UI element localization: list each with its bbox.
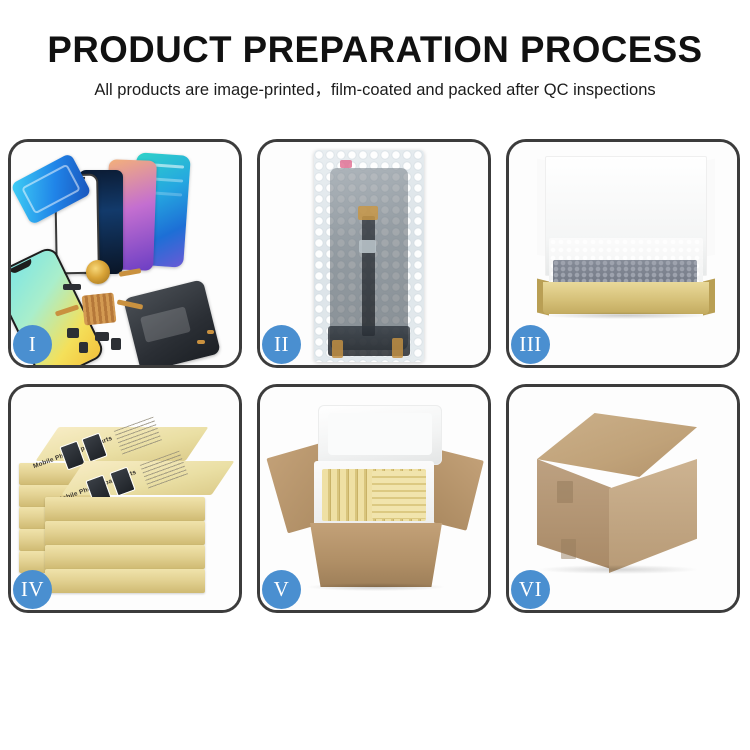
process-step-panel-4[interactable]: Mobile Phone Spare Parts Mobile Phone Sp… [8,384,242,613]
step-badge-2: II [262,325,301,364]
gold-contact-icon [332,340,343,358]
process-step-panel-1[interactable]: I [8,139,242,368]
step-badge-3: III [511,325,550,364]
step-badge-5: V [262,570,301,609]
screw-icon [197,340,205,344]
step-badge-6: VI [511,570,550,609]
page-header: PRODUCT PREPARATION PROCESS All products… [0,0,750,102]
flex-cable-icon [362,216,375,336]
retail-box-edge [45,497,205,521]
wireless-coil-icon [86,260,110,284]
carton-right-face-icon [609,459,697,573]
chip-icon [67,328,79,338]
carton-body-icon [310,523,442,587]
phone-back-housing-icon [123,279,221,365]
retail-box-edge [45,545,205,569]
foam-box-lid-icon [318,405,442,465]
box-stack: Mobile Phone Spare Parts Mobile Phone Sp… [17,405,237,605]
chip-icon [111,338,121,350]
connector-grid-icon [82,292,117,325]
gold-boxes-inside-icon [372,471,426,519]
gold-tray-icon [543,282,709,314]
chip-icon [95,332,109,341]
drop-shadow [308,583,444,591]
process-step-grid: I II [8,139,742,613]
gold-contact-icon [392,338,403,358]
gold-connector-icon [358,206,378,220]
step-badge-4: IV [13,570,52,609]
carton-tape-icon [561,539,576,559]
bubble-wrap-bag-icon [314,150,424,362]
retail-box-edge [45,569,205,593]
drop-shadow [539,565,697,574]
process-step-panel-2[interactable]: II [257,139,491,368]
page-subtitle: All products are image-printed，film-coat… [0,78,750,102]
process-step-panel-3[interactable]: III [506,139,740,368]
screw-icon [207,330,214,334]
ic-connector-icon [359,240,376,253]
carton-tape-icon [557,481,573,503]
drop-shadow [543,312,709,319]
chip-icon [63,284,81,290]
process-step-panel-6[interactable]: VI [506,384,740,613]
process-step-panel-5[interactable]: V [257,384,491,613]
pink-label-icon [340,160,352,168]
chip-icon [79,342,88,353]
retail-box-edge [45,521,205,545]
page-title: PRODUCT PREPARATION PROCESS [4,28,747,72]
step-badge-1: I [13,325,52,364]
